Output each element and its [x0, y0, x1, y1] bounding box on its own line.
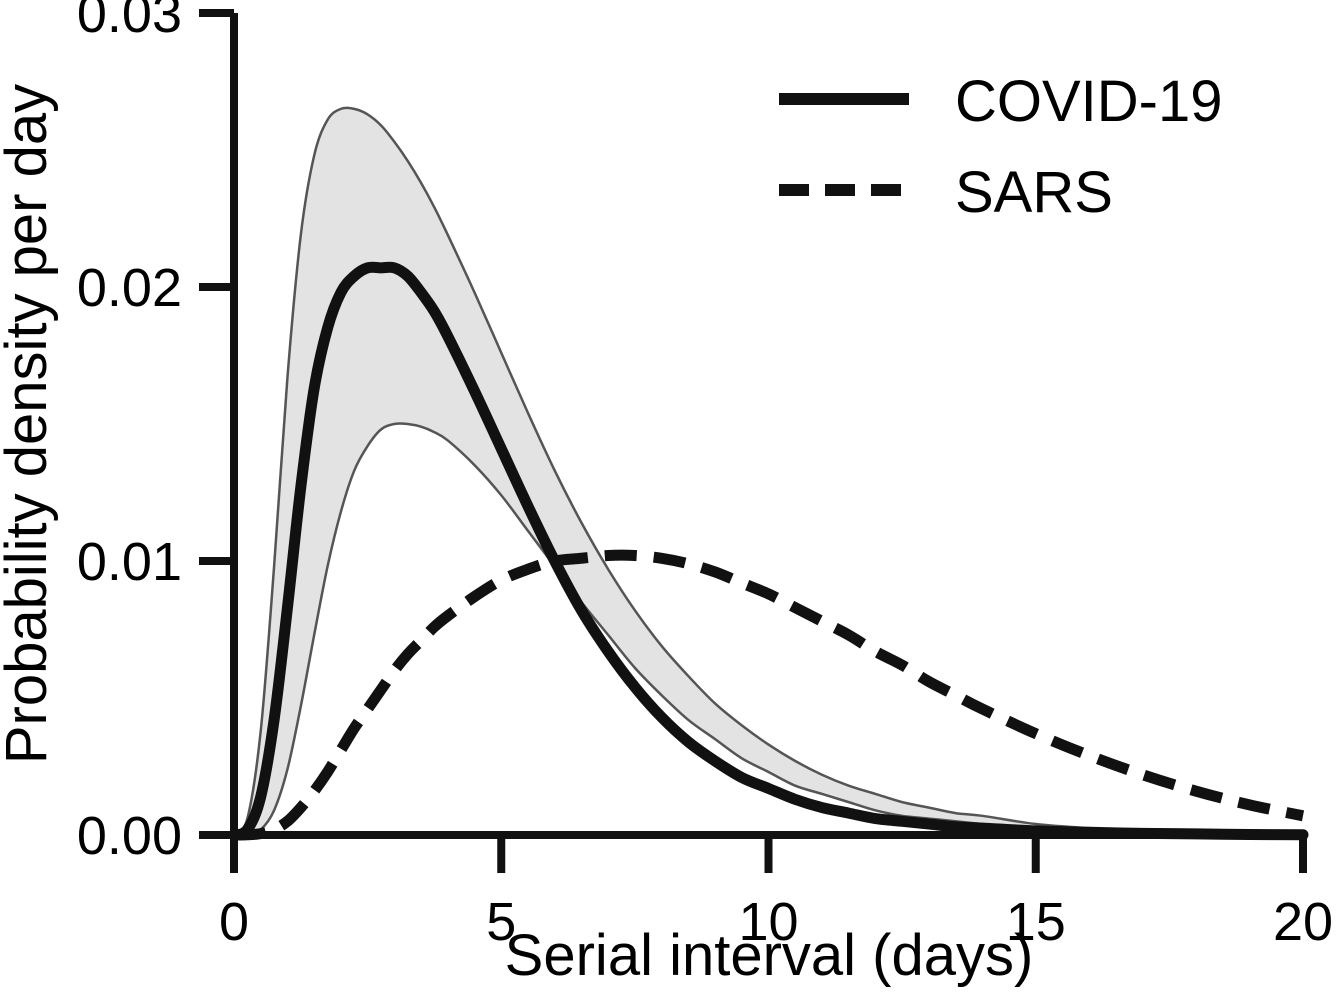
y-axis-tick-label: 0.00 [77, 806, 182, 866]
legend-label-sars: SARS [955, 160, 1113, 225]
y-axis-tick-labels: 0.000.010.020.03 [77, 0, 182, 866]
y-axis-ticks [199, 13, 234, 835]
x-axis-title: Serial interval (days) [505, 923, 1034, 988]
legend-entry-covid-19: COVID-19 [779, 69, 1223, 134]
x-axis-tick-label: 0 [219, 892, 249, 952]
serial-interval-density-chart: 0.000.010.020.03 05101520 Serial interva… [0, 0, 1340, 1004]
legend-entry-sars: SARS [779, 160, 1113, 225]
y-axis-tick-label: 0.01 [77, 532, 182, 592]
y-axis-tick-label: 0.02 [77, 258, 182, 318]
x-axis-tick-label: 20 [1273, 892, 1333, 952]
y-axis-title: Probability density per day [0, 84, 59, 764]
figure-root: 0.000.010.020.03 05101520 Serial interva… [0, 0, 1340, 1004]
x-axis-ticks [234, 835, 1303, 873]
y-axis-tick-label: 0.03 [77, 0, 182, 44]
covid-confidence-band [234, 108, 1303, 835]
legend-label-covid-19: COVID-19 [955, 69, 1223, 134]
chart-legend: COVID-19 SARS [779, 69, 1223, 225]
